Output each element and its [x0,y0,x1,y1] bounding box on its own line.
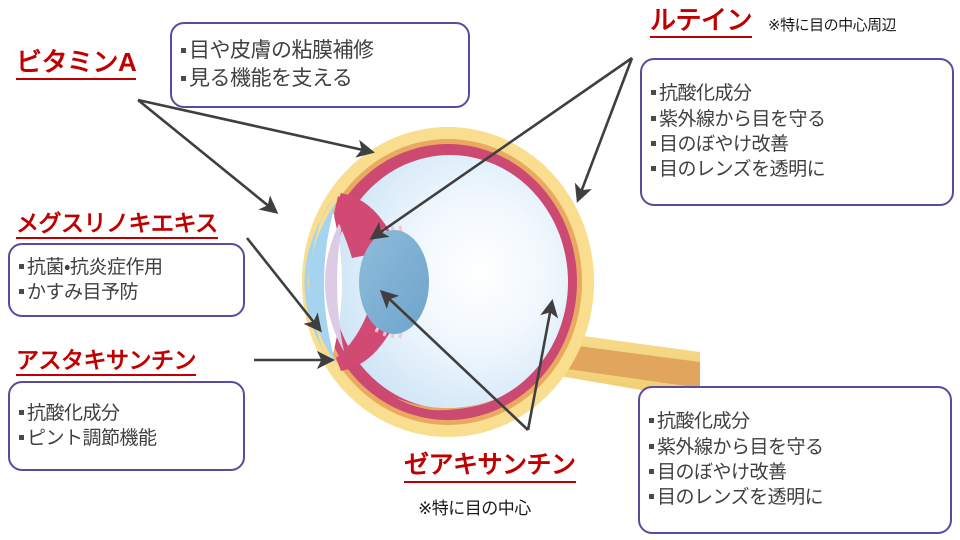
bullet-square-icon [649,418,654,423]
arrow-vitamin-a-to-cornea [138,100,276,212]
bullet-square-icon [651,116,656,121]
info-box-megusurinoki: 抗菌・抗炎症作用 かすみ目予防 [8,243,245,317]
nutrient-note-zeaxanthin: ※特に目の中心 [418,494,531,519]
effect-text: 目のレンズを透明に [657,485,823,510]
effect-line: 紫外線から目を守る [651,107,944,132]
bullet-square-icon [19,435,24,440]
info-box-vitamin-a: 目や皮膚の粘膜補修 見る機能を支える [170,22,470,108]
arrow-zeaxanthin-to-macula [528,302,552,430]
nutrient-heading-megusurinoki: メグスリノキエキス [16,211,218,239]
bullet-square-icon [19,264,24,269]
bullet-square-icon [649,494,654,499]
nutrient-note-lutein: ※特に目の中心周辺 [768,14,896,35]
nutrient-heading-zeaxanthin: ゼアキサンチン [404,452,576,483]
nutrient-heading-vitamin-a: ビタミンA [16,48,136,80]
effect-text: 抗酸化成分 [659,81,752,106]
bullet-square-icon [19,289,24,294]
bullet-square-icon [181,76,186,81]
effect-line: 抗酸化成分 [649,409,942,434]
diagram-canvas: ビタミンA 目や皮膚の粘膜補修 見る機能を支える メグスリノキエキス 抗菌・抗炎… [0,0,960,540]
effect-line: 抗酸化成分 [651,81,944,106]
effect-line: 紫外線から目を守る [649,435,942,460]
effect-text: 目のレンズを透明に [659,157,825,182]
effect-text: 抗酸化成分 [657,409,750,434]
effect-text: 抗酸化成分 [27,401,120,426]
bullet-square-icon [651,141,656,146]
bullet-square-icon [651,90,656,95]
effect-text: 紫外線から目を守る [659,107,826,132]
nutrient-heading-astaxanthin: アスタキサンチン [16,348,196,376]
effect-text: 目のぼやけ改善 [659,132,789,157]
bullet-square-icon [181,48,186,53]
bullet-square-icon [19,410,24,415]
effect-line: かすみ目予防 [19,280,235,305]
effect-text: 紫外線から目を守る [657,435,824,460]
arrow-megusurinoki-to-ciliary [247,238,320,330]
info-box-astaxanthin: 抗酸化成分 ピント調節機能 [8,381,245,471]
effect-line: 抗酸化成分 [19,401,235,426]
effect-line: 目のぼやけ改善 [649,460,942,485]
bullet-square-icon [649,444,654,449]
effect-text: 目のぼやけ改善 [657,460,787,485]
effect-line: ピント調節機能 [19,426,235,451]
bullet-square-icon [651,166,656,171]
effect-line: 見る機能を支える [181,65,460,93]
effect-text: 見る機能を支える [189,65,352,93]
effect-text: ピント調節機能 [27,426,157,451]
nutrient-heading-lutein: ルテイン [650,6,752,38]
effect-line: 抗菌・抗炎症作用 [19,255,235,280]
effect-line: 目のレンズを透明に [651,157,944,182]
arrow-lutein-to-retina-right [578,58,632,200]
info-box-lutein: 抗酸化成分 紫外線から目を守る 目のぼやけ改善 目のレンズを透明に [640,58,954,206]
arrow-zeaxanthin-to-vitreous [382,292,528,430]
effect-line: 目のレンズを透明に [649,485,942,510]
effect-text: 抗菌・抗炎症作用 [27,255,162,280]
bullet-square-icon [649,469,654,474]
effect-line: 目のぼやけ改善 [651,132,944,157]
effect-text: 目や皮膚の粘膜補修 [189,37,374,65]
info-box-zeaxanthin: 抗酸化成分 紫外線から目を守る 目のぼやけ改善 目のレンズを透明に [638,386,952,534]
effect-text: かすみ目予防 [27,280,138,305]
effect-line: 目や皮膚の粘膜補修 [181,37,460,65]
